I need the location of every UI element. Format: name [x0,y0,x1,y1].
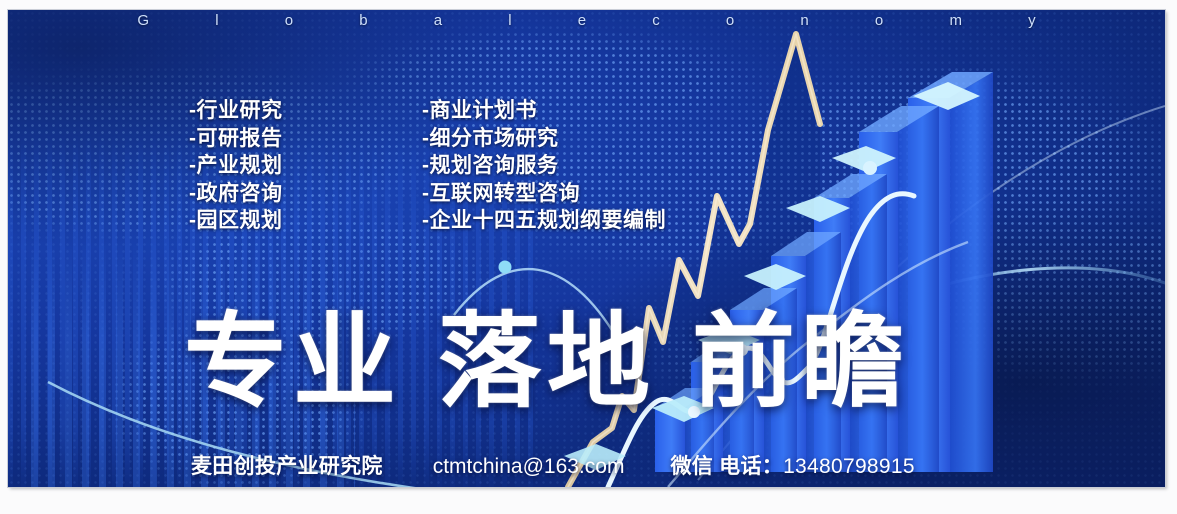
headline-word-1: 专业 [184,302,402,422]
headline-word-3: 前瞻 [692,302,910,422]
service-item: -规划咨询服务 [422,152,666,180]
service-item: -可研报告 [189,125,283,153]
service-list-left: -行业研究 -可研报告 -产业规划 -政府咨询 -园区规划 [189,97,283,235]
service-item: -商业计划书 [422,97,666,125]
poster-canvas: G l o b a l e c o n o m y -行业研究 -可研报告 -产… [8,10,1165,487]
poster-frame: G l o b a l e c o n o m y -行业研究 -可研报告 -产… [0,0,1177,514]
service-item: -细分市场研究 [422,125,666,153]
service-item: -园区规划 [189,207,283,235]
bar-7-side [949,72,993,472]
contact-label: 微信 电话： [670,455,783,478]
service-item: -产业规划 [189,152,283,180]
service-item: -互联网转型咨询 [422,180,666,208]
company-name: 麦田创投产业研究院 [191,455,383,478]
footer-contact: 麦田创投产业研究院ctmtchina@163.com微信 电话：13480798… [191,450,915,480]
email-address[interactable]: ctmtchina@163.com [433,455,625,478]
service-item: -政府咨询 [189,180,283,208]
line-node-4 [863,161,877,175]
service-item: -行业研究 [189,97,283,125]
phone-number[interactable]: 13480798915 [783,455,915,478]
headline: 专业落地前瞻 [184,308,910,416]
kicker-global-economy: G l o b a l e c o n o m y [8,12,1165,29]
headline-word-2: 落地 [438,302,656,422]
service-item: -企业十四五规划纲要编制 [422,207,666,235]
service-list-right: -商业计划书 -细分市场研究 -规划咨询服务 -互联网转型咨询 -企业十四五规划… [422,97,666,235]
